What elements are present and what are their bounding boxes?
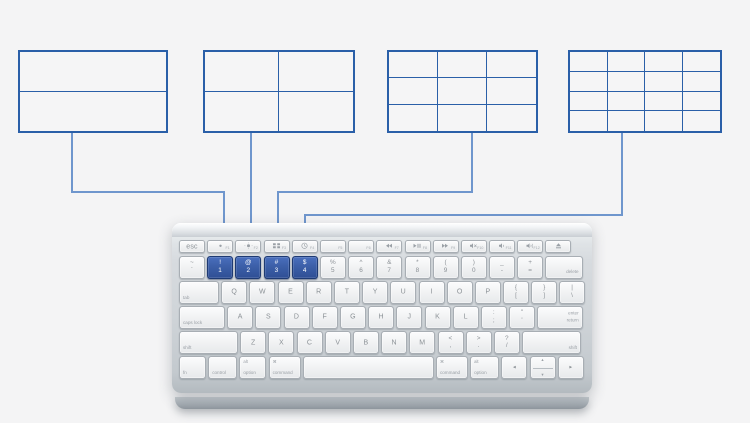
keyboard-front-edge — [175, 397, 589, 409]
key-lower-label: = — [518, 268, 542, 274]
grid-2x2 — [203, 50, 355, 133]
key-lower-label: 7 — [377, 268, 401, 274]
key-label: tab — [183, 296, 189, 301]
function-row: escF1F2F3F4F5F6F7F8F9F10F11F12 — [179, 240, 585, 253]
grid-cell — [608, 52, 646, 72]
key-label: G — [341, 314, 365, 321]
key-lower-label: 1 — [208, 268, 232, 274]
key-upper-label: & — [377, 260, 401, 266]
key-r[interactable]: R — [306, 281, 332, 304]
key-lower-label: . — [467, 343, 491, 349]
key-label: M — [410, 339, 434, 346]
key-0[interactable]: )0 — [461, 256, 487, 279]
key-k[interactable]: K — [425, 306, 451, 329]
key-c[interactable]: C — [297, 331, 323, 354]
key-lower-label: [ — [504, 293, 528, 299]
key-4[interactable]: $4 — [292, 256, 318, 279]
key-f8[interactable]: F8 — [405, 240, 431, 253]
key-label: K — [426, 314, 450, 321]
key-arrow-updown[interactable]: ▴▾ — [530, 356, 556, 379]
key-label: D — [285, 314, 309, 321]
key-option-left[interactable]: altoption — [239, 356, 266, 379]
key-e[interactable]: E — [278, 281, 304, 304]
key-esc[interactable]: esc — [179, 240, 205, 253]
key-j[interactable]: J — [396, 306, 422, 329]
key-8[interactable]: *8 — [405, 256, 431, 279]
key-label: T — [335, 289, 359, 296]
key-x[interactable]: X — [268, 331, 294, 354]
key-label: enterreturn — [567, 311, 579, 324]
grid-cell — [608, 92, 646, 112]
key-label: P — [476, 289, 500, 296]
key-divider — [533, 368, 553, 369]
key-upper-label: ! — [208, 260, 232, 266]
key-label: ◂ — [502, 365, 526, 370]
key-upper-label: > — [467, 336, 491, 342]
grid-cell — [683, 52, 721, 72]
key-fn-label: F5 — [338, 247, 342, 251]
grid-cell — [608, 111, 646, 131]
key-6[interactable]: ^6 — [348, 256, 374, 279]
key-lower-label: ; — [482, 318, 506, 324]
grid-cell — [570, 52, 608, 72]
screenshot-stage: escF1F2F3F4F5F6F7F8F9F10F11F12~`!1@2#3$4… — [0, 0, 750, 423]
key-upper-label: + — [518, 260, 542, 266]
key-lower-label: 8 — [406, 268, 430, 274]
key-upper-label: @ — [236, 260, 260, 266]
key-label: J — [397, 314, 421, 321]
key-upper-label: _ — [490, 260, 514, 266]
key-label: esc — [180, 243, 204, 250]
key-upper-label: * — [406, 260, 430, 266]
key-l[interactable]: L — [453, 306, 479, 329]
key-return[interactable]: enterreturn — [537, 306, 582, 329]
number-row: ~`!1@2#3$4%5^6&7*8(9)0_-+=delete — [179, 256, 585, 279]
key-label: caps lock — [183, 321, 202, 326]
key-upper-label: < — [439, 336, 463, 342]
key-w[interactable]: W — [249, 281, 275, 304]
key-upper-label: ( — [434, 260, 458, 266]
key-option-right[interactable]: altoption — [470, 356, 499, 379]
key-3[interactable]: #3 — [264, 256, 290, 279]
key-command-right[interactable]: ⌘command — [436, 356, 468, 379]
key-sub-label: alt — [243, 360, 247, 364]
grid-cell — [570, 72, 608, 92]
key-sub-label: ⌘ — [440, 360, 444, 364]
key-n[interactable]: N — [381, 331, 407, 354]
key-command-left[interactable]: ⌘command — [269, 356, 301, 379]
shift-row: shiftZXCVBNM<,>.?/shift — [179, 331, 585, 354]
key-d[interactable]: D — [284, 306, 310, 329]
modifier-row: fncontrolaltoption⌘command⌘commandaltopt… — [179, 356, 585, 379]
key-fn-label: F6 — [366, 247, 370, 251]
key-fn-label: F10 — [477, 247, 483, 251]
key-h[interactable]: H — [368, 306, 394, 329]
key-label: L — [454, 314, 478, 321]
key-o[interactable]: O — [447, 281, 473, 304]
keyboard-body: escF1F2F3F4F5F6F7F8F9F10F11F12~`!1@2#3$4… — [172, 223, 592, 393]
key-upper-label: : — [482, 310, 506, 316]
key-bracket-left[interactable]: {[ — [503, 281, 529, 304]
key-label: command — [440, 371, 460, 376]
grid-cell — [205, 52, 279, 92]
key-lower-label: 6 — [349, 268, 373, 274]
key-label: O — [448, 289, 472, 296]
grid-cell — [645, 92, 683, 112]
key-control[interactable]: control — [208, 356, 237, 379]
key-a[interactable]: A — [227, 306, 253, 329]
key-lower-label: 5 — [321, 268, 345, 274]
key-label: Z — [241, 339, 265, 346]
key-label: C — [298, 339, 322, 346]
grid-cell — [683, 92, 721, 112]
key-label: option — [243, 371, 256, 376]
key-arrow-left[interactable]: ◂ — [501, 356, 527, 379]
key-b[interactable]: B — [353, 331, 379, 354]
key-tab[interactable]: tab — [179, 281, 219, 304]
key-eject[interactable] — [545, 240, 571, 253]
grid-cell — [487, 78, 536, 104]
key-g[interactable]: G — [340, 306, 366, 329]
key-fn-label: F2 — [254, 247, 258, 251]
key-lower-label: - — [490, 268, 514, 274]
key-lower-label: ] — [532, 293, 556, 299]
key-f5[interactable]: F5 — [320, 240, 346, 253]
key-label: H — [369, 314, 393, 321]
key-fn-label: F9 — [451, 247, 455, 251]
key-label: W — [250, 289, 274, 296]
grid-cell — [20, 92, 166, 132]
key-shift-left[interactable]: shift — [179, 331, 238, 354]
grid-cell — [683, 72, 721, 92]
key-arrow-right[interactable]: ▸ — [558, 356, 584, 379]
key-equals[interactable]: += — [517, 256, 543, 279]
key-u[interactable]: U — [390, 281, 416, 304]
key-upper-label: ? — [495, 336, 519, 342]
key-label: B — [354, 339, 378, 346]
key-lower-label: ' — [510, 318, 534, 324]
key-period[interactable]: >. — [466, 331, 492, 354]
key-label: ▸ — [559, 365, 583, 370]
home-row: caps lockASDFGHJKL:;"'enterreturn — [179, 306, 585, 329]
key-lower-label: ` — [180, 268, 204, 274]
key-label: Y — [363, 289, 387, 296]
key-f1[interactable]: F1 — [207, 240, 233, 253]
key-caps-lock[interactable]: caps lock — [179, 306, 225, 329]
key-fn-label: F7 — [395, 247, 399, 251]
grid-3x3 — [387, 50, 538, 133]
key-label: N — [382, 339, 406, 346]
key-lower-label: 4 — [293, 268, 317, 274]
key-fn-label: F12 — [534, 247, 540, 251]
key-label: Q — [222, 289, 246, 296]
key-f6[interactable]: F6 — [348, 240, 374, 253]
grid-cell — [645, 52, 683, 72]
key-t[interactable]: T — [334, 281, 360, 304]
key-lower-label: \ — [560, 293, 583, 299]
grid-cell — [438, 78, 487, 104]
key-space[interactable] — [303, 356, 434, 379]
key-label: I — [420, 289, 444, 296]
key-upper-label: $ — [293, 260, 317, 266]
key-f11[interactable]: F11 — [489, 240, 515, 253]
key-lower-label: 0 — [462, 268, 486, 274]
key-label: fn — [183, 371, 187, 376]
key-upper-label: } — [532, 285, 556, 291]
key-f7[interactable]: F7 — [376, 240, 402, 253]
key-bracket-right[interactable]: }] — [531, 281, 557, 304]
key-label: option — [474, 371, 487, 376]
key-q[interactable]: Q — [221, 281, 247, 304]
key-sub-label: ⌘ — [273, 360, 277, 364]
grid-cell — [389, 52, 438, 78]
grid-cell — [438, 105, 487, 131]
eject-icon — [546, 242, 570, 251]
key-fn-label: F1 — [225, 247, 229, 251]
key-semicolon[interactable]: :; — [481, 306, 507, 329]
key-f10[interactable]: F10 — [461, 240, 487, 253]
key-label: shift — [183, 346, 191, 351]
key-upper-label: | — [560, 285, 583, 291]
key-upper-label: # — [265, 260, 289, 266]
key-label: S — [256, 314, 280, 321]
key-f[interactable]: F — [312, 306, 338, 329]
key-label: delete — [566, 270, 579, 275]
key-s[interactable]: S — [255, 306, 281, 329]
key-f3[interactable]: F3 — [264, 240, 290, 253]
key-upper-label: ~ — [180, 260, 204, 266]
grid-cell — [20, 52, 166, 92]
key-i[interactable]: I — [419, 281, 445, 304]
key-v[interactable]: V — [325, 331, 351, 354]
key-fn-label: F4 — [310, 247, 314, 251]
key-sub-label: alt — [474, 360, 478, 364]
grid-cell — [389, 78, 438, 104]
key-2[interactable]: @2 — [235, 256, 261, 279]
key-label: X — [269, 339, 293, 346]
key-comma[interactable]: <, — [438, 331, 464, 354]
key-shift-right[interactable]: shift — [522, 331, 581, 354]
grid-cell — [608, 72, 646, 92]
key-upper-label: ^ — [349, 260, 373, 266]
grid-1x1 — [18, 50, 168, 133]
key-f4[interactable]: F4 — [292, 240, 318, 253]
key-minus[interactable]: _- — [489, 256, 515, 279]
key-fn-label: F11 — [506, 247, 512, 251]
grid-cell — [279, 92, 353, 132]
key-f2[interactable]: F2 — [235, 240, 261, 253]
grid-cell — [570, 111, 608, 131]
key-label: command — [273, 371, 293, 376]
key-backslash[interactable]: |\ — [559, 281, 584, 304]
key-upper-label: ) — [462, 260, 486, 266]
key-label: shift — [569, 346, 577, 351]
grid-cell — [279, 52, 353, 92]
key-upper-label: { — [504, 285, 528, 291]
key-upper-label: " — [510, 310, 534, 316]
grid-4x4 — [568, 50, 722, 133]
grid-cell — [645, 111, 683, 131]
key-lower-label: 3 — [265, 268, 289, 274]
key-label: V — [326, 339, 350, 346]
key-f9[interactable]: F9 — [433, 240, 459, 253]
key-y[interactable]: Y — [362, 281, 388, 304]
key-backtick[interactable]: ~` — [179, 256, 205, 279]
grid-cell — [389, 105, 438, 131]
key-7[interactable]: &7 — [376, 256, 402, 279]
key-5[interactable]: %5 — [320, 256, 346, 279]
key-delete[interactable]: delete — [545, 256, 582, 279]
key-m[interactable]: M — [409, 331, 435, 354]
key-lower-label: 2 — [236, 268, 260, 274]
key-upper-label: % — [321, 260, 345, 266]
key-lower-label: 9 — [434, 268, 458, 274]
grid-cell — [205, 92, 279, 132]
key-z[interactable]: Z — [240, 331, 266, 354]
key-label: U — [391, 289, 415, 296]
key-quote[interactable]: "' — [509, 306, 535, 329]
grid-cell — [570, 92, 608, 112]
grid-cell — [438, 52, 487, 78]
key-9[interactable]: (9 — [433, 256, 459, 279]
key-fn-label: F8 — [423, 247, 427, 251]
key-slash[interactable]: ?/ — [494, 331, 520, 354]
key-lower-label: / — [495, 343, 519, 349]
qwerty-row: tabQWERTYUIOP{[}]|\ — [179, 281, 585, 304]
key-down-label: ▾ — [531, 373, 555, 378]
key-fn-label: F3 — [282, 247, 286, 251]
key-f12[interactable]: F12 — [517, 240, 543, 253]
key-label: control — [212, 371, 226, 376]
key-label: A — [228, 314, 252, 321]
key-p[interactable]: P — [475, 281, 501, 304]
key-label: F — [313, 314, 337, 321]
keyboard-top-bevel — [172, 223, 592, 237]
apple-wireless-keyboard: escF1F2F3F4F5F6F7F8F9F10F11F12~`!1@2#3$4… — [172, 223, 592, 403]
grid-cell — [645, 72, 683, 92]
key-fn[interactable]: fn — [179, 356, 206, 379]
key-label: E — [279, 289, 303, 296]
grid-cell — [487, 52, 536, 78]
key-label: R — [307, 289, 331, 296]
key-1[interactable]: !1 — [207, 256, 233, 279]
grid-cell — [487, 105, 536, 131]
key-lower-label: , — [439, 343, 463, 349]
key-up-label: ▴ — [531, 358, 555, 363]
grid-cell — [683, 111, 721, 131]
